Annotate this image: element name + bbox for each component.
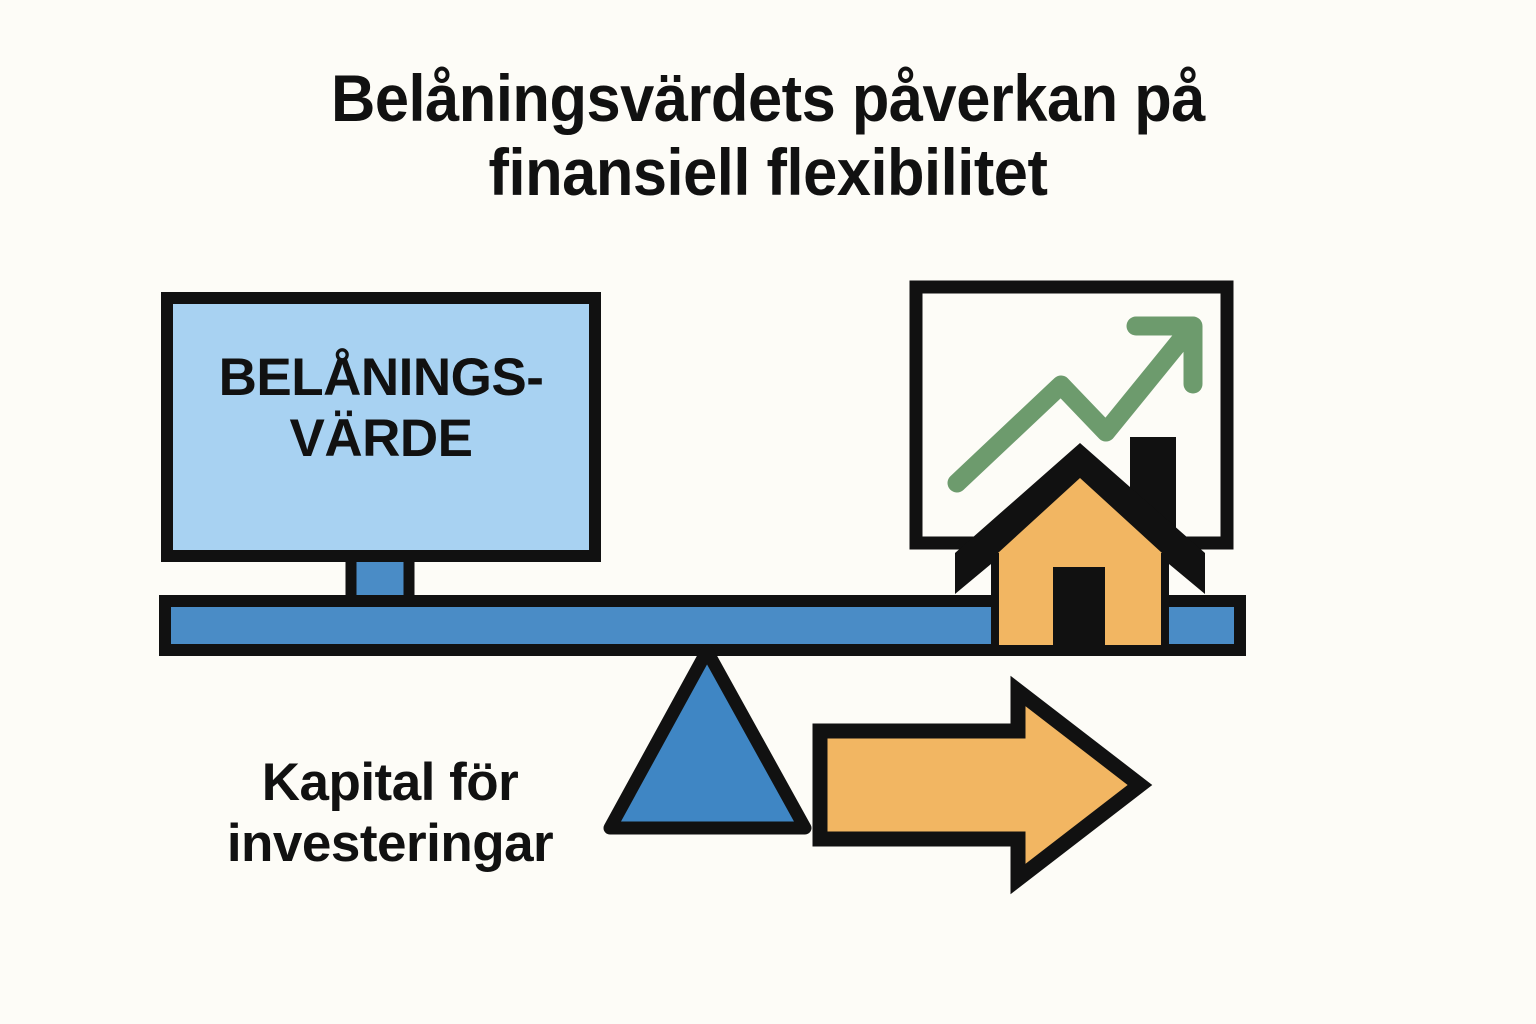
illustration-canvas: Belåningsvärdets påverkan på finansiell … xyxy=(0,0,1536,1024)
house-left-edge xyxy=(991,553,999,645)
right-pointing-arrow xyxy=(820,691,1140,879)
triangle-fulcrum xyxy=(610,651,805,828)
house-door xyxy=(1053,567,1105,645)
beloningsvarde-plate xyxy=(167,298,595,556)
house-right-edge xyxy=(1161,553,1169,645)
scale-caption: Kapital för investeringar xyxy=(160,752,620,875)
